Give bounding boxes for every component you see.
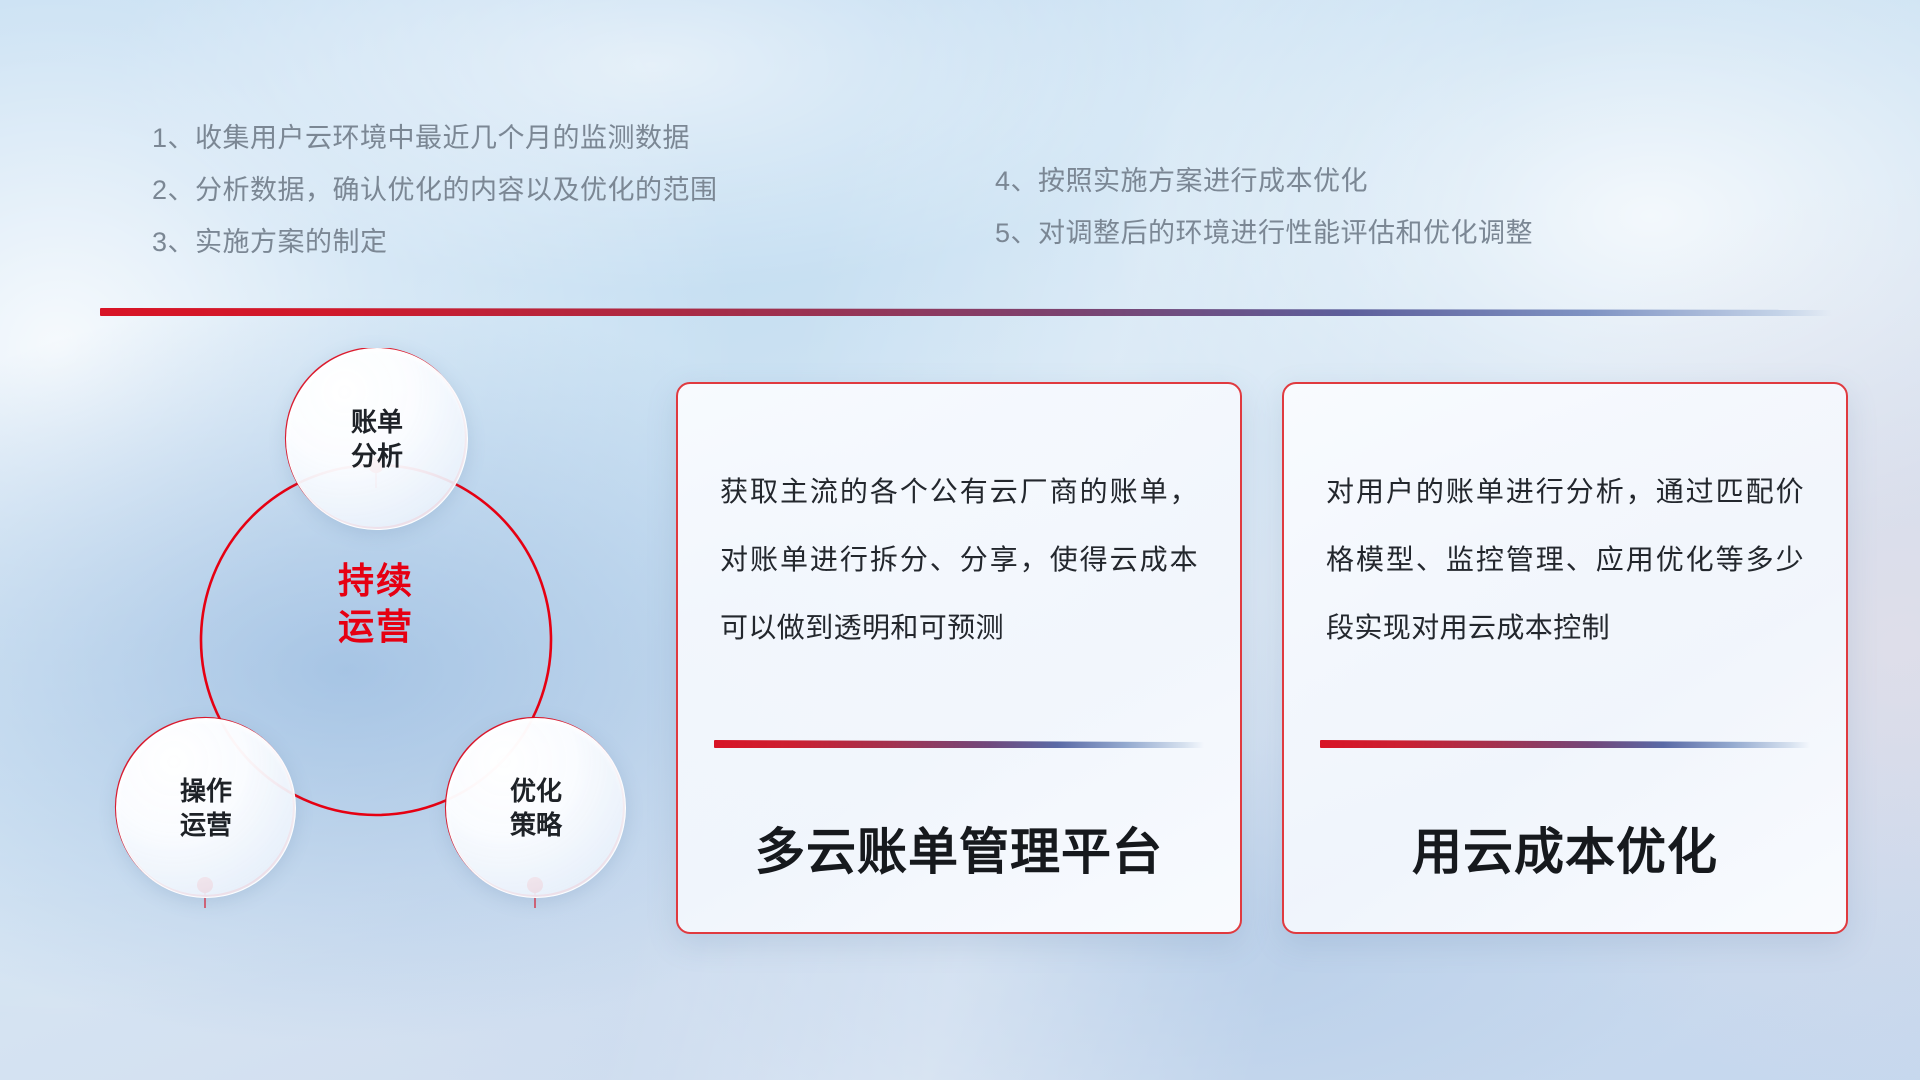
- process-step-1: 1、收集用户云环境中最近几个月的监测数据: [152, 112, 718, 164]
- card-title-text: 多云账单管理平台: [714, 812, 1204, 884]
- node-label-line1: 账单: [351, 405, 403, 439]
- card-multi-cloud-billing-platform[interactable]: 获取主流的各个公有云厂商的账单，对账单进行拆分、分享，使得云成本可以做到透明和可…: [676, 382, 1242, 934]
- card-title-text: 用云成本优化: [1320, 812, 1810, 884]
- node-label-line2: 分析: [351, 439, 403, 473]
- card-divider: [1320, 740, 1810, 748]
- card-cloud-cost-optimization[interactable]: 对用户的账单进行分析，通过匹配价格模型、监控管理、应用优化等多少段实现对用云成本…: [1282, 382, 1848, 934]
- node-label-line1: 操作: [180, 774, 232, 808]
- slide-canvas: 1、收集用户云环境中最近几个月的监测数据 2、分析数据，确认优化的内容以及优化的…: [0, 0, 1920, 1080]
- process-steps-left: 1、收集用户云环境中最近几个月的监测数据 2、分析数据，确认优化的内容以及优化的…: [152, 112, 718, 268]
- process-step-2: 2、分析数据，确认优化的内容以及优化的范围: [152, 164, 718, 216]
- card-divider: [714, 740, 1204, 748]
- card-body-text: 对用户的账单进行分析，通过匹配价格模型、监控管理、应用优化等多少段实现对用云成本…: [1326, 458, 1804, 662]
- node-label-line2: 运营: [180, 808, 232, 842]
- continuous-operation-diagram: 账单 分析 操作 运营 优化 策略 持续 运营: [96, 348, 656, 948]
- process-step-5: 5、对调整后的环境进行性能评估和优化调整: [995, 207, 1533, 259]
- diagram-node-billing-analysis[interactable]: 账单 分析: [286, 348, 468, 530]
- diagram-center-label: 持续 运营: [286, 558, 466, 650]
- card-body-text: 获取主流的各个公有云厂商的账单，对账单进行拆分、分享，使得云成本可以做到透明和可…: [720, 458, 1198, 662]
- center-label-line2: 运营: [286, 604, 466, 650]
- process-steps-right: 4、按照实施方案进行成本优化 5、对调整后的环境进行性能评估和优化调整: [995, 155, 1533, 259]
- diagram-node-optimization-strategy[interactable]: 优化 策略: [446, 718, 626, 898]
- process-step-4: 4、按照实施方案进行成本优化: [995, 155, 1533, 207]
- node-label-line2: 策略: [510, 808, 562, 842]
- process-step-3: 3、实施方案的制定: [152, 216, 718, 268]
- diagram-node-operations[interactable]: 操作 运营: [116, 718, 296, 898]
- center-label-line1: 持续: [286, 558, 466, 604]
- node-label-line1: 优化: [510, 774, 562, 808]
